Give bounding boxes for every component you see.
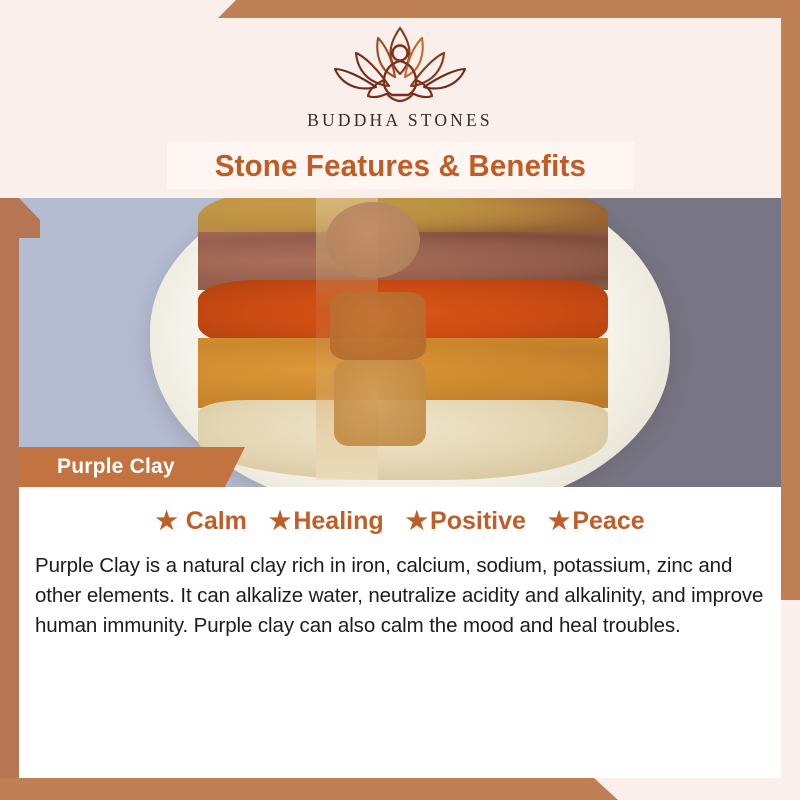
powder-patch-middle (330, 292, 426, 360)
product-name-tag: Purple Clay (19, 447, 245, 487)
frame-border-left (0, 198, 19, 800)
content-panel: ★ Calm ★ Healing ★ Positive ★ Peace Purp… (19, 487, 781, 778)
star-icon: ★ (548, 509, 570, 534)
keyword-label: Peace (572, 507, 644, 536)
page-title: Stone Features & Benefits (215, 148, 586, 184)
keyword-positive: ★ Positive (406, 507, 526, 536)
product-name-label: Purple Clay (57, 455, 175, 479)
brand-name: BUDDHA STONES (307, 110, 493, 131)
powder-bands (198, 198, 608, 480)
powder-patch-lower (334, 360, 426, 446)
title-banner: Stone Features & Benefits (167, 142, 634, 189)
frame-border-bottom (0, 778, 800, 800)
keyword-row: ★ Calm ★ Healing ★ Positive ★ Peace (19, 487, 781, 536)
frame-border-right (781, 0, 800, 600)
brand-header: BUDDHA STONES (0, 0, 800, 145)
lotus-meditation-icon (315, 22, 485, 106)
keyword-label: Healing (293, 507, 383, 536)
brand-logo-block: BUDDHA STONES (0, 22, 800, 131)
star-icon: ★ (155, 509, 177, 534)
keyword-healing: ★ Healing (269, 507, 384, 536)
keyword-calm: ★ Calm (155, 507, 247, 536)
description-text: Purple Clay is a natural clay rich in ir… (35, 551, 767, 641)
keyword-label: Positive (430, 507, 526, 536)
poster-canvas: BUDDHA STONES Stone Features & Benefits … (0, 0, 800, 800)
star-icon: ★ (269, 509, 291, 534)
powder-patch-upper (326, 202, 420, 278)
keyword-peace: ★ Peace (548, 507, 645, 536)
star-icon: ★ (406, 509, 428, 534)
keyword-label: Calm (186, 507, 247, 536)
clay-powder-photo (0, 198, 800, 487)
